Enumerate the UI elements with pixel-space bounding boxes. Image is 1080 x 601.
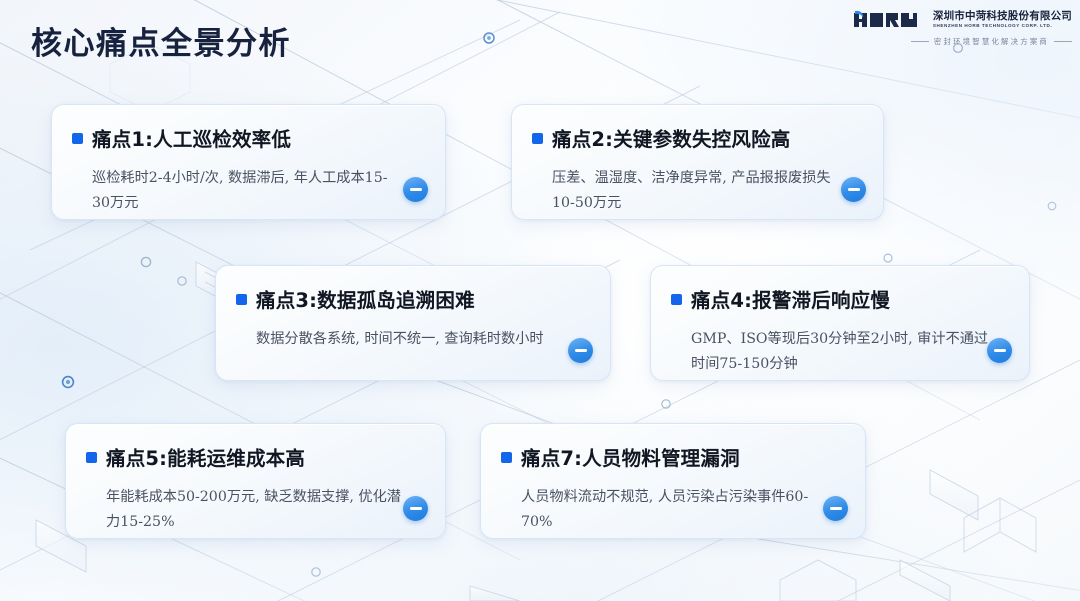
- minus-circle-icon[interactable]: [823, 496, 848, 521]
- horb-wordmark-icon: [853, 10, 927, 30]
- pain-point-card[interactable]: 痛点4:报警滞后响应慢 GMP、ISO等现后30分钟至2小时, 审计不通过时间7…: [650, 265, 1030, 381]
- square-bullet-icon: [501, 452, 512, 463]
- pain-point-card[interactable]: 痛点2:关键参数失控风险高 压差、温湿度、洁净度异常, 产品报报废损失10-50…: [511, 104, 884, 220]
- logo-tagline-row: 密封环境智慧化解决方案商: [896, 36, 1072, 47]
- pain-point-card[interactable]: 痛点3:数据孤岛追溯困难 数据分散各系统, 时间不统一, 查询耗时数小时: [215, 265, 611, 381]
- square-bullet-icon: [72, 133, 83, 144]
- square-bullet-icon: [86, 452, 97, 463]
- card-body-text: 数据分散各系统, 时间不统一, 查询耗时数小时: [256, 327, 556, 352]
- page-title: 核心痛点全景分析: [31, 18, 291, 63]
- minus-circle-icon[interactable]: [841, 177, 866, 202]
- card-body-text: 压差、温湿度、洁净度异常, 产品报报废损失10-50万元: [552, 166, 852, 217]
- card-title: 痛点2:关键参数失控风险高: [552, 123, 790, 152]
- logo-tagline: 密封环境智慧化解决方案商: [934, 36, 1049, 47]
- pain-point-card[interactable]: 痛点1:人工巡检效率低 巡检耗时2-4小时/次, 数据滞后, 年人工成本15-3…: [51, 104, 446, 220]
- square-bullet-icon: [236, 294, 247, 305]
- company-logo: 深圳市中菏科技股份有限公司 SHENZHEN HORB TECHNOLOGY C…: [886, 10, 1072, 54]
- card-title: 痛点5:能耗运维成本高: [106, 442, 305, 471]
- logo-rule-right: [1054, 41, 1072, 42]
- logo-main-row: 深圳市中菏科技股份有限公司 SHENZHEN HORB TECHNOLOGY C…: [853, 10, 1072, 30]
- card-header: 痛点2:关键参数失控风险高: [532, 123, 861, 152]
- card-header: 痛点3:数据孤岛追溯困难: [236, 284, 588, 313]
- minus-circle-icon[interactable]: [403, 177, 428, 202]
- card-body-text: 人员物料流动不规范, 人员污染占污染事件60-70%: [521, 485, 821, 536]
- logo-company-en: SHENZHEN HORB TECHNOLOGY CORP. LTD.: [933, 24, 1052, 29]
- pain-point-card[interactable]: 痛点5:能耗运维成本高 年能耗成本50-200万元, 缺乏数据支撑, 优化潜力1…: [65, 423, 446, 539]
- square-bullet-icon: [671, 294, 682, 305]
- slide-canvas: 核心痛点全景分析 深圳市中菏科技股份有限公司 SHENZHEN HORB TEC…: [0, 0, 1080, 601]
- logo-text-block: 深圳市中菏科技股份有限公司 SHENZHEN HORB TECHNOLOGY C…: [933, 11, 1072, 28]
- card-header: 痛点7:人员物料管理漏洞: [501, 442, 843, 471]
- logo-company-cn: 深圳市中菏科技股份有限公司: [933, 11, 1072, 22]
- card-body-text: 年能耗成本50-200万元, 缺乏数据支撑, 优化潜力15-25%: [106, 485, 406, 536]
- card-body-text: GMP、ISO等现后30分钟至2小时, 审计不通过时间75-150分钟: [691, 327, 991, 378]
- card-body-text: 巡检耗时2-4小时/次, 数据滞后, 年人工成本15-30万元: [92, 166, 392, 217]
- card-title: 痛点1:人工巡检效率低: [92, 123, 291, 152]
- pain-point-card[interactable]: 痛点7:人员物料管理漏洞 人员物料流动不规范, 人员污染占污染事件60-70%: [480, 423, 866, 539]
- card-title: 痛点7:人员物料管理漏洞: [521, 442, 740, 471]
- card-header: 痛点4:报警滞后响应慢: [671, 284, 1007, 313]
- card-title: 痛点4:报警滞后响应慢: [691, 284, 890, 313]
- square-bullet-icon: [532, 133, 543, 144]
- card-header: 痛点1:人工巡检效率低: [72, 123, 423, 152]
- card-title: 痛点3:数据孤岛追溯困难: [256, 284, 475, 313]
- minus-circle-icon[interactable]: [987, 338, 1012, 363]
- card-header: 痛点5:能耗运维成本高: [86, 442, 423, 471]
- minus-circle-icon[interactable]: [568, 338, 593, 363]
- minus-circle-icon[interactable]: [403, 496, 428, 521]
- logo-rule-left: [911, 41, 929, 42]
